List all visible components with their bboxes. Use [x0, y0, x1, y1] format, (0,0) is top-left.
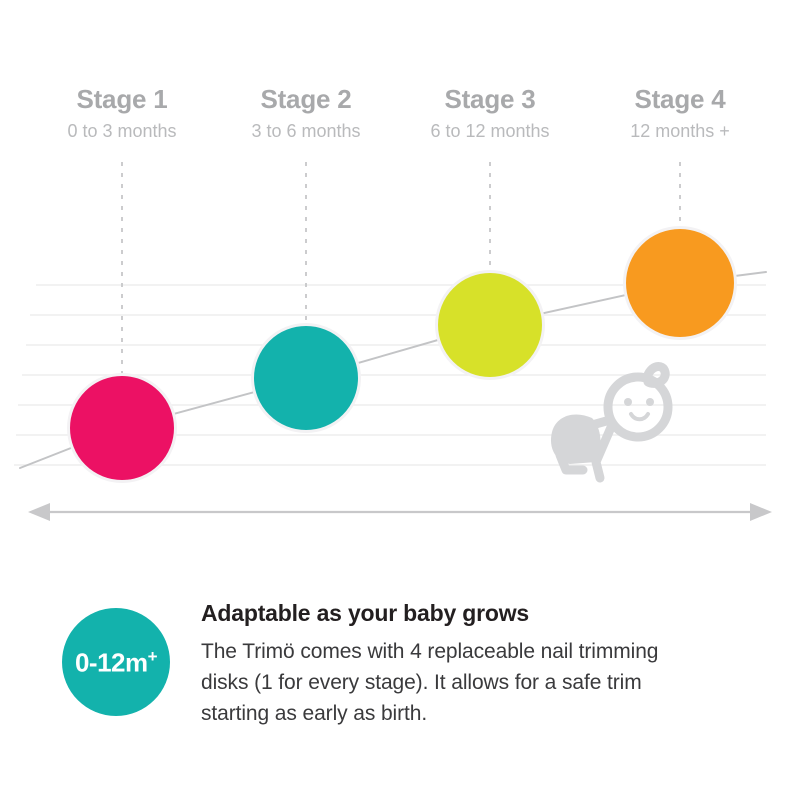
stage-title-1: Stage 1: [27, 84, 217, 114]
age-range-badge-label: 0-12m+: [75, 648, 157, 676]
dashed-connectors: [122, 162, 680, 374]
stage-subtitle-1: 0 to 3 months: [27, 118, 217, 144]
description-body: The Trimö comes with 4 replaceable nail …: [201, 636, 671, 729]
growth-chart: Stage 1 0 to 3 months Stage 2 3 to 6 mon…: [0, 0, 800, 560]
stage-subtitle-2: 3 to 6 months: [211, 118, 401, 144]
description-block: Adaptable as your baby grows The Trimö c…: [201, 598, 701, 729]
stage-subtitle-4: 12 months +: [585, 118, 775, 144]
stage-label-1: Stage 1 0 to 3 months: [27, 84, 217, 144]
double-arrow-icon: [28, 503, 772, 521]
stage-title-2: Stage 2: [211, 84, 401, 114]
stage-dot-4[interactable]: [623, 226, 737, 340]
stage-dot-3[interactable]: [435, 270, 545, 380]
baby-body: [551, 414, 601, 464]
age-range-badge: 0-12m+: [62, 608, 170, 716]
stage-label-4: Stage 4 12 months +: [585, 84, 775, 144]
description-heading: Adaptable as your baby grows: [201, 598, 701, 628]
stage-title-4: Stage 4: [585, 84, 775, 114]
age-range-badge-plus: +: [148, 647, 157, 666]
stage-label-2: Stage 2 3 to 6 months: [211, 84, 401, 144]
stage-label-3: Stage 3 6 to 12 months: [395, 84, 585, 144]
stage-dot-2[interactable]: [251, 323, 361, 433]
infographic-root: Stage 1 0 to 3 months Stage 2 3 to 6 mon…: [0, 0, 800, 800]
stage-dot-1[interactable]: [67, 373, 177, 483]
stage-subtitle-3: 6 to 12 months: [395, 118, 585, 144]
stage-title-3: Stage 3: [395, 84, 585, 114]
age-range-badge-value: 0-12m: [75, 648, 148, 678]
stage-label-row: Stage 1 0 to 3 months Stage 2 3 to 6 mon…: [0, 84, 800, 164]
baby-smile: [631, 414, 648, 419]
